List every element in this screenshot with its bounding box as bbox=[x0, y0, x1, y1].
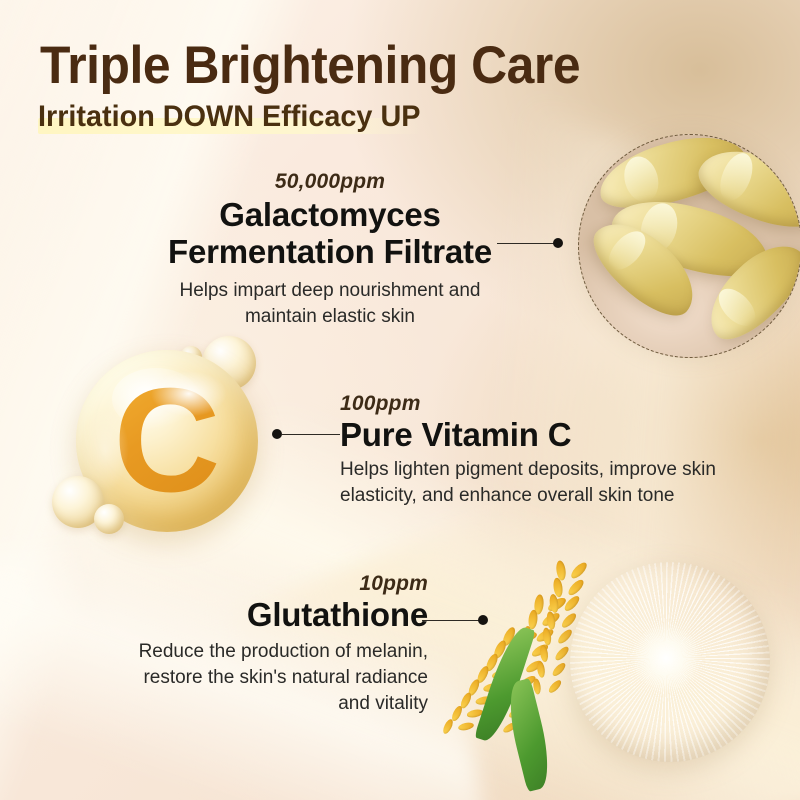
connector-line bbox=[422, 620, 480, 622]
page-subtitle: Irritation DOWN Efficacy UP bbox=[38, 100, 420, 134]
light-core bbox=[631, 623, 701, 693]
bubble-icon bbox=[94, 504, 124, 534]
rice-grain-icon bbox=[563, 594, 582, 613]
ingredient-block-glutathione: 10ppm Glutathione Reduce the production … bbox=[108, 572, 428, 717]
vitamin-c-sphere-graphic: C bbox=[52, 336, 276, 552]
connector-line-vitamin-c bbox=[272, 429, 344, 439]
ingredient-description: Helps lighten pigment deposits, improve … bbox=[340, 457, 740, 509]
connector-line bbox=[282, 434, 340, 436]
rice-grain-icon bbox=[536, 661, 546, 678]
rice-grain-icon bbox=[569, 560, 589, 581]
rice-grain-icon bbox=[458, 721, 475, 731]
ingredient-description: Helps impart deep nourishment and mainta… bbox=[150, 278, 510, 330]
glutathione-sphere-graphic bbox=[498, 540, 788, 790]
rice-grain-icon bbox=[553, 644, 570, 662]
ingredient-block-galactomyces: 50,000ppm Galactomyces Fermentation Filt… bbox=[150, 170, 510, 330]
rice-grain-photo-circle bbox=[578, 134, 800, 358]
ingredient-name: Pure Vitamin C bbox=[340, 416, 740, 453]
page-title: Triple Brightening Care bbox=[40, 38, 580, 94]
subtitle-container: Irritation DOWN Efficacy UP bbox=[38, 100, 436, 136]
glowing-sphere bbox=[570, 562, 770, 762]
ingredient-ppm: 10ppm bbox=[359, 572, 428, 595]
connector-dot bbox=[553, 238, 563, 248]
rice-grain-icon bbox=[533, 678, 542, 695]
ingredient-ppm: 50,000ppm bbox=[150, 170, 510, 194]
connector-dot bbox=[272, 429, 282, 439]
rice-grain-icon bbox=[566, 577, 586, 597]
ingredient-block-vitamin-c: 100ppm Pure Vitamin C Helps lighten pigm… bbox=[340, 392, 740, 509]
ingredient-ppm: 100ppm bbox=[340, 392, 421, 415]
rice-grain-icon bbox=[547, 678, 563, 694]
rice-grain-icon bbox=[550, 661, 567, 678]
ingredient-name: Galactomyces Fermentation Filtrate bbox=[150, 196, 510, 270]
ingredient-name: Glutathione bbox=[108, 596, 428, 633]
connector-dot bbox=[478, 615, 488, 625]
infographic-poster: Triple Brightening Care Irritation DOWN … bbox=[0, 0, 800, 800]
ingredient-description: Reduce the production of melanin, restor… bbox=[108, 639, 428, 717]
connector-line-glutathione bbox=[422, 615, 494, 625]
